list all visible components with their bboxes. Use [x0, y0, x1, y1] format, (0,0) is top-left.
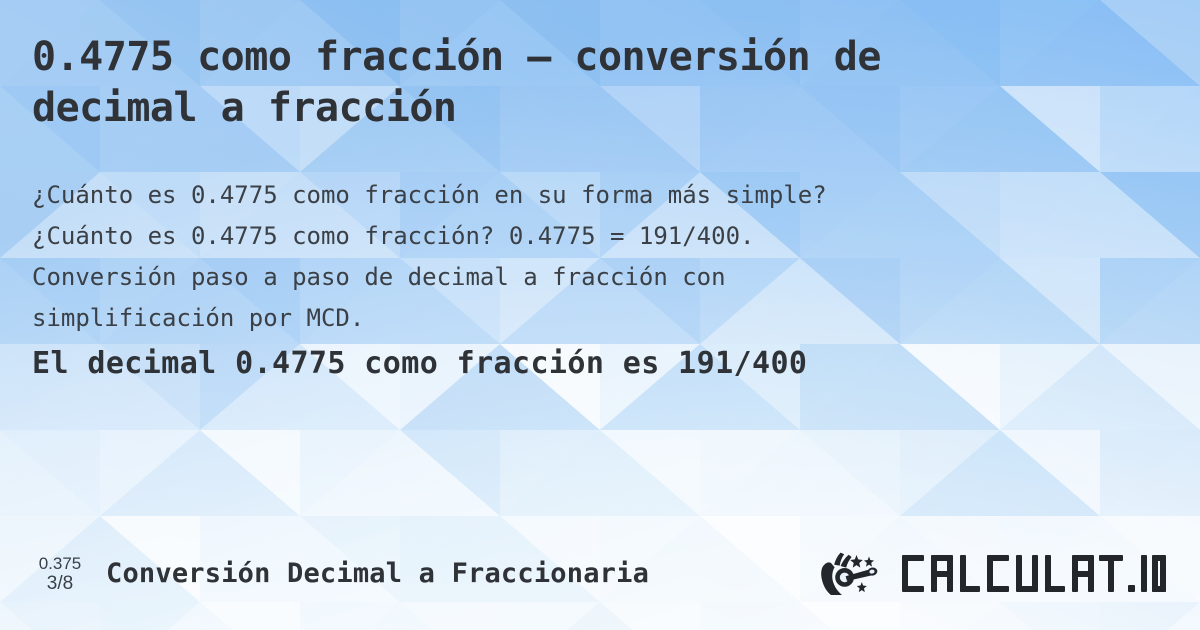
description-line-3: Conversión paso a paso de decimal a frac…	[32, 257, 1142, 298]
result-statement: El decimal 0.4775 como fracción es 191/4…	[32, 345, 807, 383]
site-logo[interactable]: CALCULAT.IO	[820, 551, 1168, 597]
page-content: 0.4775 como fracción – conversión de dec…	[0, 0, 1200, 630]
footer-bar: 0.375 3/8 Conversión Decimal a Fracciona…	[0, 546, 1200, 602]
icon-decimal-value: 0.375	[39, 554, 82, 573]
page-description: ¿Cuánto es 0.4775 como fracción en su fo…	[32, 175, 1142, 339]
description-line-2: ¿Cuánto es 0.4775 como fracción? 0.4775 …	[32, 216, 1142, 257]
description-line-4: simplificación por MCD.	[32, 298, 1142, 339]
hand-magic-wand-icon	[820, 551, 894, 597]
icon-fraction-value: 3/8	[47, 573, 73, 594]
decimal-fraction-icon: 0.375 3/8	[32, 554, 88, 594]
footer-title: Conversión Decimal a Fraccionaria	[106, 558, 649, 589]
footer-brand: 0.375 3/8 Conversión Decimal a Fracciona…	[32, 554, 649, 594]
page-title-line-2: decimal a fracción	[32, 85, 456, 131]
logo-wordmark: CALCULAT.IO	[900, 553, 1168, 595]
page-title: 0.4775 como fracción – conversión de dec…	[32, 32, 1152, 134]
page-title-line-1: 0.4775 como fracción – conversión de	[32, 34, 881, 80]
description-line-1: ¿Cuánto es 0.4775 como fracción en su fo…	[32, 175, 1142, 216]
